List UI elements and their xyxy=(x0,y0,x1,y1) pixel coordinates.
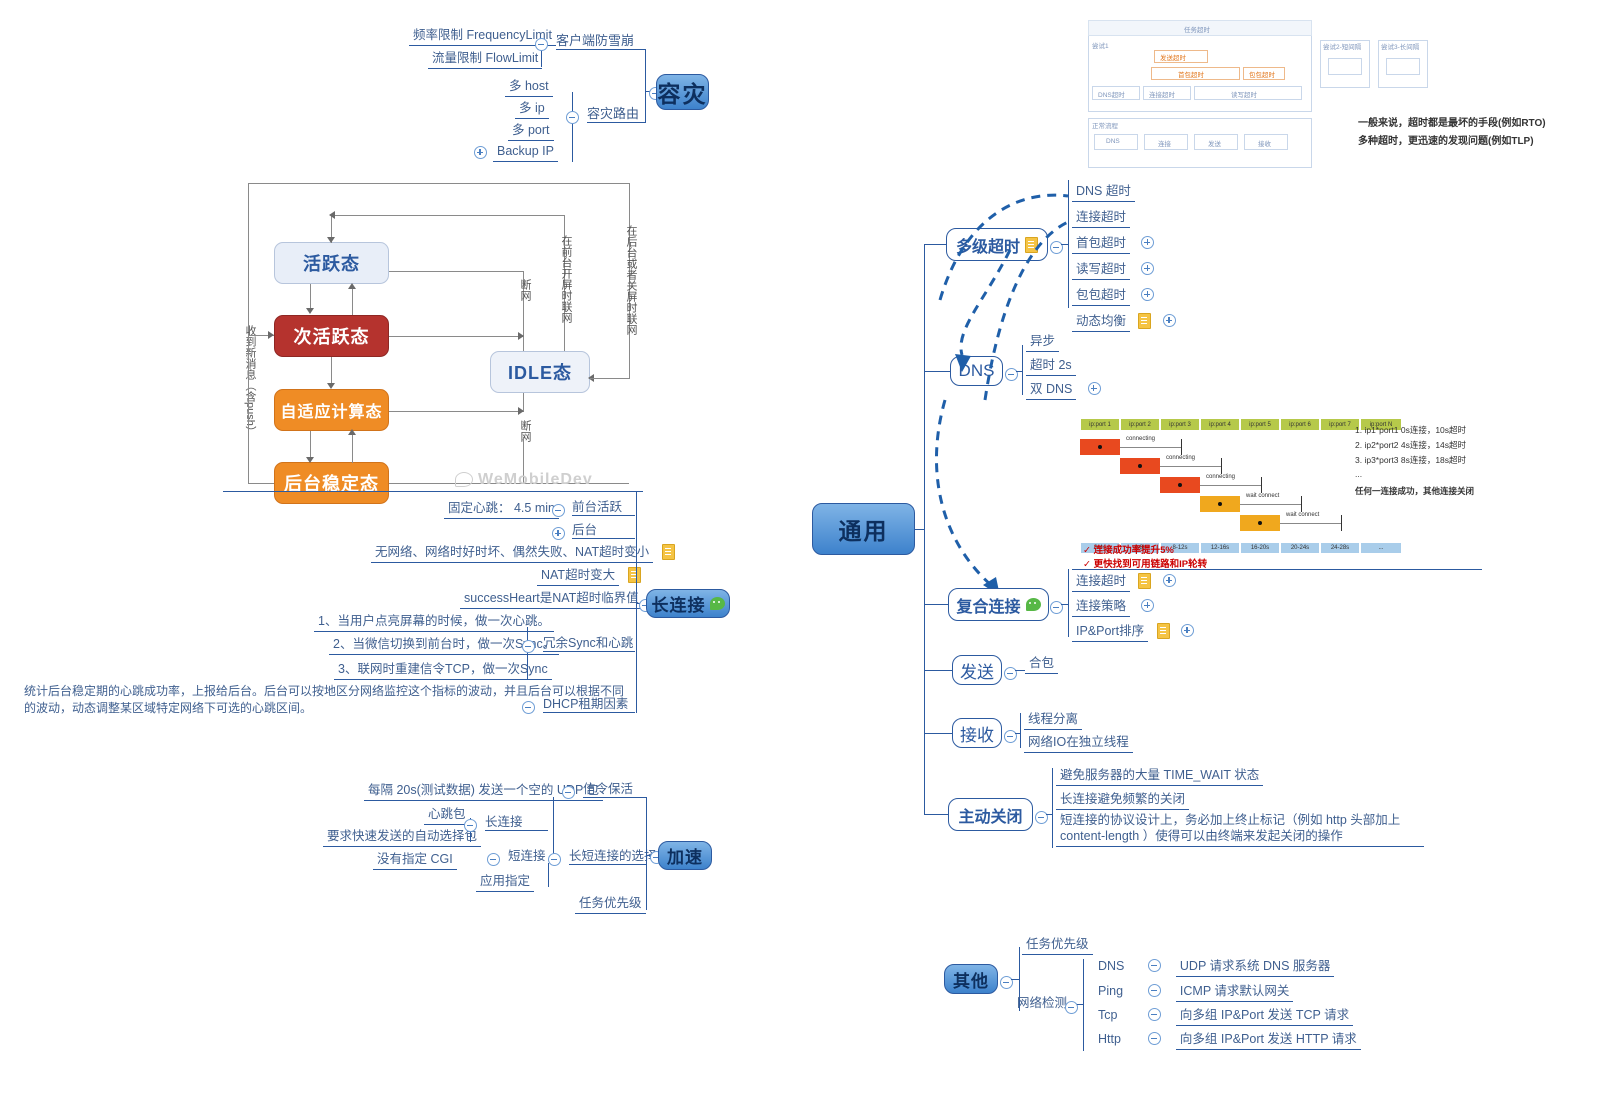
connector xyxy=(636,491,637,713)
leaf-text: 线程分离 xyxy=(1024,712,1082,730)
connector xyxy=(572,538,635,539)
leaf-short-conn-protocol[interactable]: 短连接的协议设计上，务必加上终止标记（例如 http 头部加上 content-… xyxy=(1056,812,1424,847)
figure-attempt1: 尝试1 xyxy=(1092,40,1109,50)
connector xyxy=(590,378,630,379)
leaf-sync-rule-1[interactable]: 1、当用户点亮屏幕的时候，做一次心跳。 xyxy=(314,612,554,632)
connector xyxy=(248,335,249,484)
toggle-client-anti-avalanche[interactable] xyxy=(535,36,548,54)
toggle-disaster-route[interactable] xyxy=(566,109,579,127)
edge-label-background-screenoff: 在后台或者关屏时联网 xyxy=(623,225,639,335)
chart-benefit-2: ✓ 更快找到可用链路和IP轮转 xyxy=(1083,556,1207,570)
state-active: 活跃态 xyxy=(274,242,389,284)
note-icon[interactable] xyxy=(1138,313,1151,329)
leaf-text: 没有指定 CGI xyxy=(373,852,457,870)
chart-category: ip:port 5 xyxy=(1240,418,1280,431)
toggle-packet-packet-timeout[interactable] xyxy=(1141,288,1154,301)
leaf-multi-ip[interactable]: 多 ip xyxy=(515,99,549,119)
edge-label-foreground-screenon: 在前台开屏时联网 xyxy=(558,235,574,323)
connector xyxy=(331,215,565,216)
chart-category: ip:port 7 xyxy=(1320,418,1360,431)
figure-normal-dns: DNS xyxy=(1106,138,1120,145)
leaf-text: 超时 2s xyxy=(1026,358,1076,376)
node-label: 长连接 xyxy=(652,591,706,616)
leaf-connect-timeout[interactable]: 连接超时 xyxy=(1072,208,1130,228)
leaf-text: 3、联网时重建信令TCP，做一次Sync xyxy=(334,662,552,680)
leaf-connect-strategy[interactable]: 连接策略 xyxy=(1072,597,1154,617)
detect-key: Http xyxy=(1098,1032,1134,1047)
toggle-active-close[interactable] xyxy=(1035,809,1048,827)
connector xyxy=(587,122,646,123)
leaf-dynamic-balance[interactable]: 动态均衡 xyxy=(1072,312,1176,332)
leaf-text: 双 DNS xyxy=(1026,382,1076,400)
leaf-text: 合包 xyxy=(1025,656,1058,674)
leaf-multi-host[interactable]: 多 host xyxy=(505,77,553,97)
watermark: WeMobileDev xyxy=(455,471,593,489)
leaf-text: 固定心跳： 4.5 min xyxy=(444,501,559,519)
leaf-text: 多 host xyxy=(505,79,553,97)
connector xyxy=(1052,768,1053,848)
leaf-text: 读写超时 xyxy=(1072,262,1130,280)
toggle-first-packet-timeout[interactable] xyxy=(1141,236,1154,249)
figure-normal-flow: 正常流程 xyxy=(1092,120,1118,130)
toggle-connect-strategy[interactable] xyxy=(1141,599,1154,612)
node-disaster-root[interactable]: 容灾 xyxy=(656,74,709,110)
long-connection-footnote: 统计后台稳定期的心跳成功率，上报给后台。后台可以按地区分网络监控这个指标的波动，… xyxy=(24,683,634,717)
connector xyxy=(556,49,646,50)
toggle-detect-tcp[interactable] xyxy=(1148,1008,1161,1021)
benefit-text: 连接成功率提升5% xyxy=(1094,545,1174,556)
connector xyxy=(485,830,548,831)
edge-label-offline-2: 断网 xyxy=(517,420,533,442)
detect-key: Ping xyxy=(1098,984,1134,999)
figure-dns-timeout: DNS超时 xyxy=(1098,89,1125,99)
note-icon[interactable] xyxy=(1157,623,1170,639)
toggle-short-connection-sub[interactable] xyxy=(487,851,500,869)
arrow xyxy=(327,237,335,243)
leaf-text: 无网络、网络时好时坏、偶然失败、NAT超时变小 xyxy=(371,545,653,563)
connector xyxy=(1016,371,1023,372)
connector xyxy=(1020,713,1021,748)
chart-time-tick: ... xyxy=(1360,542,1402,554)
connector xyxy=(523,393,524,411)
state-sub-active: 次活跃态 xyxy=(274,315,389,357)
chart-legend-note: 3. ip3*port3 8s连接，18s超时 xyxy=(1355,454,1466,466)
leaf-network-io-thread[interactable]: 网络IO在独立线程 xyxy=(1024,733,1133,753)
connector xyxy=(1046,814,1053,815)
node-short-connection-sub: 短连接 xyxy=(508,849,546,864)
leaf-avoid-time-wait[interactable]: 避免服务器的大量 TIME_WAIT 状态 xyxy=(1056,766,1263,786)
leaf-ip-port-order[interactable]: IP&Port排序 xyxy=(1072,622,1194,642)
toggle-detect-ping[interactable] xyxy=(1148,984,1161,997)
node-redundant-sync: 冗余Sync和心跳 xyxy=(543,636,633,651)
connector xyxy=(389,411,524,412)
leaf-success-heart[interactable]: successHeart是NAT超时临界值 xyxy=(460,589,664,609)
leaf-dns-timeout[interactable]: DNS 超时 xyxy=(1072,182,1135,202)
chart-category: ip:port 4 xyxy=(1200,418,1240,431)
leaf-text: 任务优先级 xyxy=(1022,937,1093,955)
connector xyxy=(924,244,946,245)
leaf-text: 多 port xyxy=(508,123,554,141)
row-detect-tcp[interactable]: Tcp 向多组 IP&Port 发送 TCP 请求 xyxy=(1098,1006,1353,1026)
toggle-ip-port-order[interactable] xyxy=(1181,624,1194,637)
node-receive[interactable]: 接收 xyxy=(952,718,1002,748)
detect-desc: UDP 请求系统 DNS 服务器 xyxy=(1176,959,1334,977)
leaf-app-specified[interactable]: 应用指定 xyxy=(476,872,534,892)
state-background-stable: 后台稳定态 xyxy=(274,462,389,504)
chart-legend-summary: 任何一连接成功，其他连接关闭 xyxy=(1355,485,1474,497)
state-adaptive: 自适应计算态 xyxy=(274,389,389,431)
node-client-anti-avalanche: 客户端防雪崩 xyxy=(556,33,634,48)
connector xyxy=(1061,244,1069,245)
chart-category: ip:port 3 xyxy=(1160,418,1200,431)
connector xyxy=(924,670,952,671)
connector xyxy=(389,271,524,272)
chart-time-tick: 12-16s xyxy=(1200,542,1240,554)
leaf-text: 心跳包 xyxy=(424,807,470,825)
toggle-send[interactable] xyxy=(1004,665,1017,683)
toggle-signal-keepalive[interactable] xyxy=(562,784,575,802)
connector xyxy=(572,92,573,162)
connector xyxy=(915,529,925,530)
leaf-long-conn-avoid-close[interactable]: 长连接避免频繁的关闭 xyxy=(1056,790,1189,810)
node-dns[interactable]: DNS xyxy=(950,356,1003,386)
connector xyxy=(223,491,643,492)
toggle-composite-connection[interactable] xyxy=(1050,599,1063,617)
connector xyxy=(1077,1004,1084,1005)
leaf-task-priority-other[interactable]: 任务优先级 xyxy=(1022,935,1093,955)
arrow xyxy=(348,283,356,289)
leaf-text: 包包超时 xyxy=(1072,288,1130,306)
detect-key: DNS xyxy=(1098,959,1134,974)
arrow xyxy=(327,383,335,389)
connector xyxy=(1061,604,1069,605)
figure-note-2: 多种超时，更迅速的发现问题(例如TLP) xyxy=(1358,132,1534,147)
node-label: 多级超时 xyxy=(956,233,1020,257)
node-long-connection-root[interactable]: 长连接 xyxy=(646,589,730,618)
leaf-nat-timeout-large[interactable]: NAT超时变大 xyxy=(537,566,641,586)
leaf-text: 流量限制 FlowLimit xyxy=(428,51,542,69)
leaf-text: 动态均衡 xyxy=(1072,314,1130,332)
leaf-merge-packet[interactable]: 合包 xyxy=(1025,654,1058,674)
leaf-text: 频率限制 FrequencyLimit xyxy=(409,28,556,46)
figure-normal-send: 发送 xyxy=(1208,138,1221,148)
detect-desc: 向多组 IP&Port 发送 TCP 请求 xyxy=(1176,1008,1353,1026)
arrow xyxy=(348,429,356,435)
figure-packet-timeout: 包包超时 xyxy=(1249,69,1275,79)
chart-bar-state: connecting xyxy=(1166,455,1195,461)
leaf-dns-async[interactable]: 异步 xyxy=(1026,332,1059,352)
figure-send-timeout: 发送超时 xyxy=(1160,52,1186,62)
toggle-backup-ip[interactable] xyxy=(474,144,487,162)
connection-timing-chart: ip:port 1 ip:port 2 ip:port 3 ip:port 4 … xyxy=(1080,415,1540,560)
node-background: 后台 xyxy=(572,523,597,538)
figure-note-1: 一般来说，超时都是最坏的手段(例如RTO) xyxy=(1358,114,1546,129)
chart-legend-note: 2. ip2*port2 4s连接，14s超时 xyxy=(1355,439,1466,451)
leaf-text: 多 ip xyxy=(515,101,549,119)
leaf-text: 避免服务器的大量 TIME_WAIT 状态 xyxy=(1056,768,1263,786)
connector xyxy=(248,183,630,184)
connector xyxy=(553,797,554,857)
node-long-connection-sub: 长连接 xyxy=(485,815,523,830)
node-disaster-route: 容灾路由 xyxy=(587,106,639,121)
connector xyxy=(572,515,635,516)
toggle-detect-http[interactable] xyxy=(1148,1032,1161,1045)
figure-task-timeout: 任务超时 xyxy=(1184,24,1210,34)
connector xyxy=(645,49,646,123)
leaf-dual-dns[interactable]: 双 DNS xyxy=(1026,380,1101,400)
figure-rw-timeout: 读写超时 xyxy=(1231,89,1257,99)
leaf-text: DNS 超时 xyxy=(1072,184,1135,202)
chart-bar-state: connecting xyxy=(1206,474,1235,480)
chart-time-tick: 24-28s xyxy=(1320,542,1360,554)
node-other-root[interactable]: 其他 xyxy=(944,964,998,994)
connector xyxy=(1015,670,1025,671)
chart-category: ip:port 1 xyxy=(1080,418,1120,431)
connector xyxy=(331,357,332,385)
toggle-background[interactable] xyxy=(552,525,565,543)
toggle-receive[interactable] xyxy=(1004,728,1017,746)
leaf-fixed-heartbeat[interactable]: 固定心跳： 4.5 min xyxy=(444,499,559,519)
detect-key: Tcp xyxy=(1098,1008,1134,1023)
toggle-network-detection[interactable] xyxy=(1065,999,1078,1017)
leaf-text: NAT超时变大 xyxy=(537,568,619,586)
wechat-icon xyxy=(710,597,725,610)
leaf-flow-limit[interactable]: 流量限制 FlowLimit xyxy=(428,49,542,69)
node-label: 复合连接 xyxy=(956,593,1020,617)
figure-attempt2: 尝试2-短间隔 xyxy=(1323,41,1361,51)
chart-legend-note: ... xyxy=(1355,469,1362,479)
leaf-fast-send-auto-packet[interactable]: 要求快速发送的自动选择包 xyxy=(323,827,481,847)
toggle-composite-connect-timeout[interactable] xyxy=(1163,574,1176,587)
arrow xyxy=(306,308,314,314)
connector xyxy=(1015,733,1021,734)
connector xyxy=(583,797,646,798)
chart-bar-state: wait connect xyxy=(1246,493,1279,499)
chart-category: ip:port 6 xyxy=(1280,418,1320,431)
note-icon[interactable] xyxy=(1025,237,1038,253)
figure-first-packet-timeout: 首包超时 xyxy=(1178,69,1204,79)
chart-time-tick: 16-20s xyxy=(1240,542,1280,554)
connector xyxy=(248,183,249,335)
connector xyxy=(310,284,311,310)
leaf-composite-connect-timeout[interactable]: 连接超时 xyxy=(1072,572,1176,592)
connector xyxy=(924,814,948,815)
leaf-first-packet-timeout[interactable]: 首包超时 xyxy=(1072,234,1154,254)
figure-normal-connect: 连接 xyxy=(1158,138,1171,148)
figure-attempt3: 尝试3-长间隔 xyxy=(1381,41,1419,51)
connector xyxy=(924,604,948,605)
leaf-text: 长连接避免频繁的关闭 xyxy=(1056,792,1189,810)
leaf-text: 任务优先级 xyxy=(575,896,646,914)
connector xyxy=(389,336,524,337)
arrow xyxy=(306,457,314,463)
leaf-text: successHeart是NAT超时临界值 xyxy=(460,591,643,609)
connector xyxy=(1068,569,1069,637)
node-send[interactable]: 发送 xyxy=(952,655,1002,685)
connector xyxy=(569,864,646,865)
toggle-dns[interactable] xyxy=(1005,366,1018,384)
figure-connect-timeout: 连接超时 xyxy=(1149,89,1175,99)
node-connection-choice: 长短连接的选择 xyxy=(569,849,657,864)
wechat-logo-icon xyxy=(455,472,473,487)
row-detect-dns[interactable]: DNS UDP 请求系统 DNS 服务器 xyxy=(1098,957,1334,977)
leaf-frequency-limit[interactable]: 频率限制 FrequencyLimit xyxy=(409,26,556,46)
leaf-text: 连接超时 xyxy=(1072,574,1130,592)
node-signal-keepalive: 信令保活 xyxy=(583,782,633,797)
detect-desc: ICMP 请求默认网关 xyxy=(1176,984,1294,1002)
chart-bar-state: wait connect xyxy=(1286,512,1319,518)
state-machine-diagram: 活跃态 次活跃态 自适应计算态 后台稳定态 IDLE态 收到新消息（含push） xyxy=(220,175,640,505)
node-network-detection: 网络检测 xyxy=(1017,996,1067,1011)
wechat-icon xyxy=(1026,598,1041,611)
connector xyxy=(1011,979,1019,980)
node-foreground-active: 前台活跃 xyxy=(572,500,622,515)
leaf-text: 网络IO在独立线程 xyxy=(1024,735,1133,753)
leaf-text: 应用指定 xyxy=(476,874,534,892)
node-general-root[interactable]: 通用 xyxy=(812,503,915,555)
toggle-multi-level-timeout[interactable] xyxy=(1050,239,1063,257)
leaf-text: Backup IP xyxy=(493,144,558,162)
leaf-rw-timeout[interactable]: 读写超时 xyxy=(1072,260,1154,280)
toggle-other-root[interactable] xyxy=(1000,974,1013,992)
chart-legend-note: 1. ip1*port1 0s连接，10s超时 xyxy=(1355,424,1466,436)
arrow xyxy=(518,332,524,340)
leaf-thread-separation[interactable]: 线程分离 xyxy=(1024,710,1082,730)
toggle-detect-dns[interactable] xyxy=(1148,959,1161,972)
figure-normal-receive: 接收 xyxy=(1258,138,1271,148)
edge-label-new-message: 收到新消息（含push） xyxy=(242,325,258,437)
leaf-text: 1、当用户点亮屏幕的时候，做一次心跳。 xyxy=(314,614,554,632)
leaf-nat-timeout-small[interactable]: 无网络、网络时好时坏、偶然失败、NAT超时变小 xyxy=(371,543,675,563)
leaf-text: 首包超时 xyxy=(1072,236,1130,254)
toggle-rw-timeout[interactable] xyxy=(1141,262,1154,275)
connector xyxy=(352,289,353,315)
row-detect-ping[interactable]: Ping ICMP 请求默认网关 xyxy=(1098,982,1293,1002)
chart-time-tick: 20-24s xyxy=(1280,542,1320,554)
leaf-text: 连接超时 xyxy=(1072,210,1130,228)
connector xyxy=(543,651,635,652)
node-multi-level-timeout[interactable]: 多级超时 xyxy=(946,228,1048,261)
leaf-text: 异步 xyxy=(1026,334,1059,352)
leaf-heartbeat-packet[interactable]: 心跳包 xyxy=(424,805,470,825)
leaf-dns-timeout-2s[interactable]: 超时 2s xyxy=(1026,356,1076,376)
connector xyxy=(310,431,311,459)
note-icon[interactable] xyxy=(662,544,675,560)
connector xyxy=(924,371,950,372)
toggle-redundant-sync[interactable] xyxy=(522,638,535,656)
leaf-backup-ip[interactable]: Backup IP xyxy=(493,142,558,162)
leaf-task-priority-accel[interactable]: 任务优先级 xyxy=(575,894,646,914)
row-detect-http[interactable]: Http 向多组 IP&Port 发送 HTTP 请求 xyxy=(1098,1030,1361,1050)
edge-label-offline-1: 断网 xyxy=(517,279,533,301)
state-idle: IDLE态 xyxy=(490,351,590,393)
node-active-close[interactable]: 主动关闭 xyxy=(948,798,1033,831)
watermark-text: WeMobileDev xyxy=(478,471,593,488)
timeout-figure: 任务超时 尝试1 发送超时 首包超时 包包超时 DNS超时 连接超时 读写超时 … xyxy=(1088,14,1522,169)
toggle-foreground-active[interactable] xyxy=(552,502,565,520)
leaf-no-cgi[interactable]: 没有指定 CGI xyxy=(373,850,457,870)
connector xyxy=(1072,569,1482,570)
note-icon[interactable] xyxy=(628,567,641,583)
node-accelerate-root[interactable]: 加速 xyxy=(658,841,712,870)
arrow xyxy=(268,331,274,339)
note-icon[interactable] xyxy=(1138,573,1151,589)
connector xyxy=(1022,345,1023,395)
connector xyxy=(924,733,952,734)
connector xyxy=(352,435,353,463)
mindmap-canvas: 频率限制 FrequencyLimit 流量限制 FlowLimit 客户端防雪… xyxy=(0,0,1624,1097)
leaf-packet-packet-timeout[interactable]: 包包超时 xyxy=(1072,286,1154,306)
chart-bar-state: connecting xyxy=(1126,436,1155,442)
leaf-text: IP&Port排序 xyxy=(1072,624,1148,642)
node-composite-connection[interactable]: 复合连接 xyxy=(948,588,1049,621)
connector xyxy=(248,483,274,484)
leaf-multi-port[interactable]: 多 port xyxy=(508,121,554,141)
leaf-text: 连接策略 xyxy=(1072,599,1130,617)
chart-category: ip:port 2 xyxy=(1120,418,1160,431)
toggle-dynamic-balance[interactable] xyxy=(1163,314,1176,327)
leaf-sync-rule-3[interactable]: 3、联网时重建信令TCP，做一次Sync xyxy=(334,660,552,680)
toggle-long-connection-sub[interactable] xyxy=(464,817,477,835)
detect-desc: 向多组 IP&Port 发送 HTTP 请求 xyxy=(1176,1032,1361,1050)
chart-benefit-1: ✓ 连接成功率提升5% xyxy=(1083,542,1174,556)
toggle-dual-dns[interactable] xyxy=(1088,382,1101,395)
connector xyxy=(646,797,647,910)
arrow xyxy=(329,211,335,219)
toggle-connection-choice[interactable] xyxy=(548,851,561,869)
leaf-text: 要求快速发送的自动选择包 xyxy=(323,829,481,847)
